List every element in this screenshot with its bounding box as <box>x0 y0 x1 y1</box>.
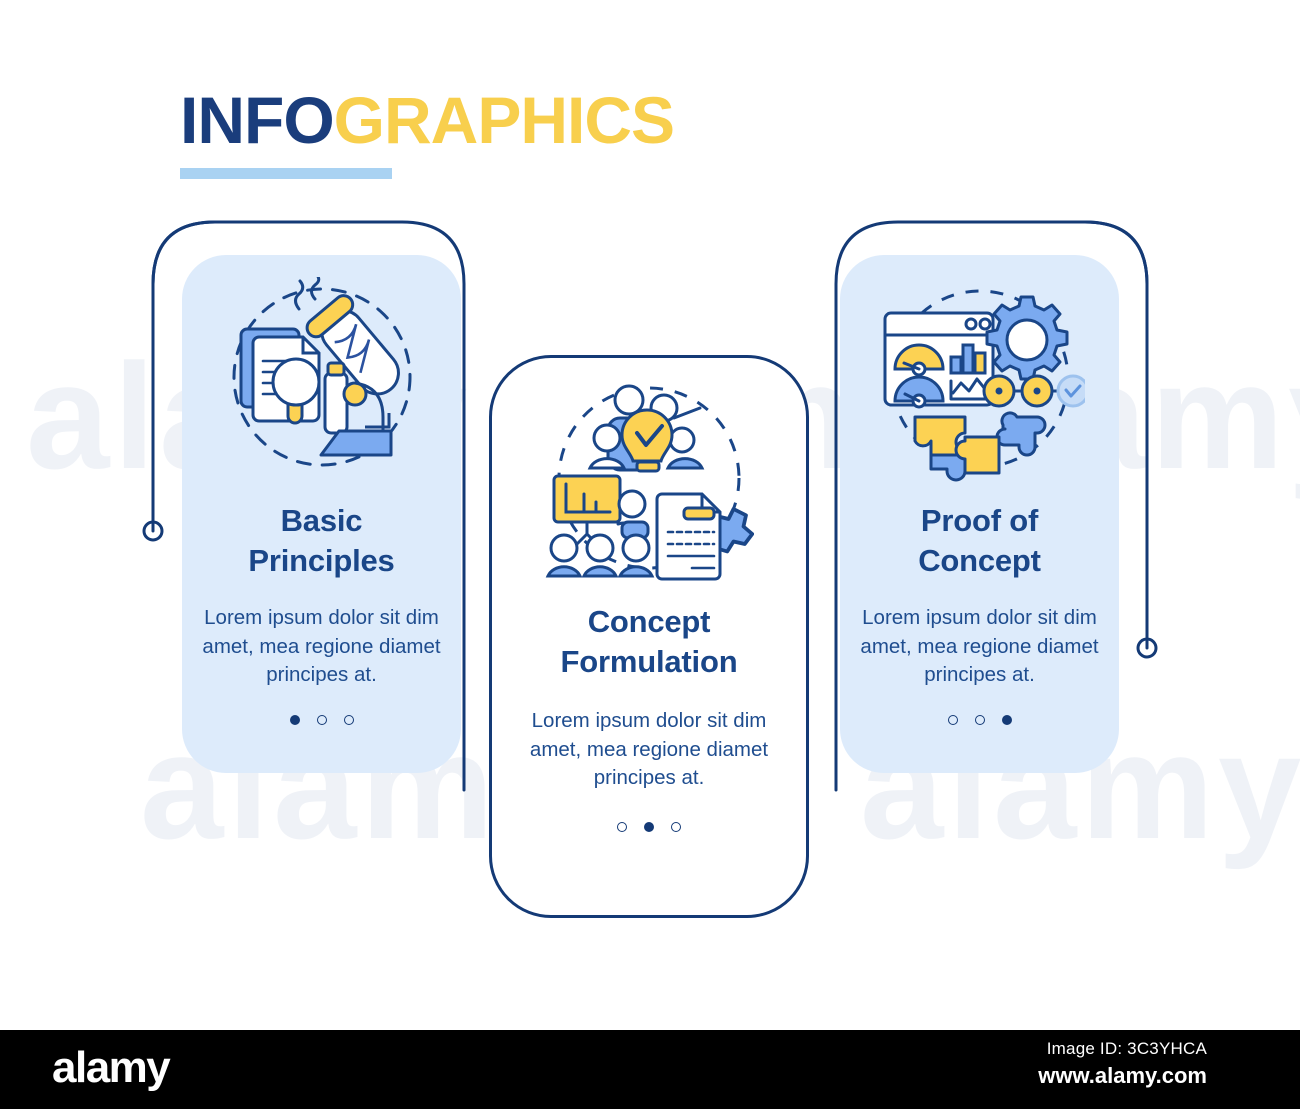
team-idea-icon <box>544 376 754 586</box>
website-label: www.alamy.com <box>1038 1063 1207 1089</box>
pagination-dots[interactable] <box>617 822 681 832</box>
pagination-dot-1[interactable] <box>290 715 300 725</box>
card-basic-principles[interactable]: Basic Principles Lorem ipsum dolor sit d… <box>182 255 461 773</box>
pagination-dot-3[interactable] <box>344 715 354 725</box>
card-heading: Proof of Concept <box>918 501 1041 580</box>
pagination-dot-1[interactable] <box>948 715 958 725</box>
card-body-text: Lorem ipsum dolor sit dim amet, mea regi… <box>515 707 783 792</box>
card-heading-line1: Concept <box>561 602 738 642</box>
pagination-dot-3[interactable] <box>1002 715 1012 725</box>
card-heading-line2: Principles <box>248 541 394 581</box>
pagination-dot-2[interactable] <box>317 715 327 725</box>
card-heading-line1: Basic <box>248 501 394 541</box>
pagination-dots[interactable] <box>948 715 1012 725</box>
card-heading: Concept Formulation <box>561 602 738 681</box>
pagination-dot-3[interactable] <box>671 822 681 832</box>
stock-photo-footer: alamy Image ID: 3C3YHCA www.alamy.com <box>0 1030 1300 1109</box>
infographic-canvas: alamy alamy alamy alamy alamy INFOGRAPHI… <box>0 0 1300 1109</box>
lab-research-icon <box>217 277 427 487</box>
card-heading: Basic Principles <box>248 501 394 580</box>
pagination-dot-2[interactable] <box>644 822 654 832</box>
image-id-label: Image ID: 3C3YHCA <box>1047 1039 1207 1059</box>
pagination-dot-1[interactable] <box>617 822 627 832</box>
card-body-text: Lorem ipsum dolor sit dim amet, mea regi… <box>193 604 451 689</box>
dashboard-puzzle-icon <box>875 277 1085 487</box>
title-part-graphics: GRAPHICS <box>334 83 674 157</box>
card-heading-line2: Concept <box>918 541 1041 581</box>
alamy-logo: alamy <box>52 1043 169 1093</box>
card-proof-of-concept[interactable]: Proof of Concept Lorem ipsum dolor sit d… <box>840 255 1119 773</box>
card-body-text: Lorem ipsum dolor sit dim amet, mea regi… <box>851 604 1109 689</box>
card-heading-line2: Formulation <box>561 642 738 682</box>
page-title: INFOGRAPHICS <box>180 86 674 155</box>
card-heading-line1: Proof of <box>918 501 1041 541</box>
pagination-dots[interactable] <box>290 715 354 725</box>
title-part-info: INFO <box>180 83 334 157</box>
title-underline-rule <box>180 168 392 179</box>
pagination-dot-2[interactable] <box>975 715 985 725</box>
card-concept-formulation[interactable]: Concept Formulation Lorem ipsum dolor si… <box>489 355 809 918</box>
